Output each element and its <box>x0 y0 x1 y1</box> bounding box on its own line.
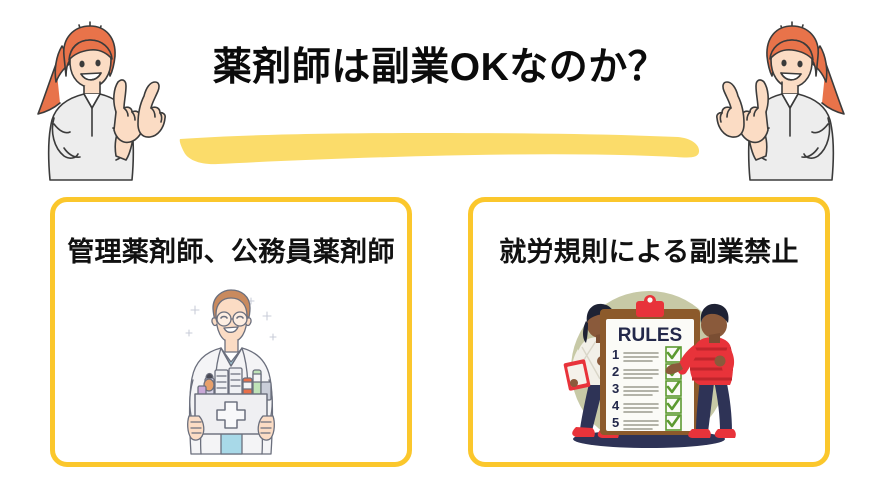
card-title: 就労規則による副業禁止 <box>473 230 825 269</box>
pharmacist-with-medicine-box-illustration <box>55 282 407 462</box>
slide-canvas: 薬剤師は副業OKなのか？ <box>0 0 880 500</box>
svg-text:2: 2 <box>612 364 619 379</box>
pointing-woman-illustration-mirrored <box>700 8 870 188</box>
svg-text:1: 1 <box>612 347 619 362</box>
card-manager-pharmacist[interactable]: 管理薬剤師、公務員薬剤師 <box>50 197 412 467</box>
card-title: 管理薬剤師、公務員薬剤師 <box>55 230 407 269</box>
svg-text:3: 3 <box>612 381 619 396</box>
page-title: 薬剤師は副業OKなのか？ <box>150 45 730 92</box>
rules-heading: RULES <box>618 325 682 346</box>
svg-text:4: 4 <box>612 398 620 413</box>
title-block: 薬剤師は副業OKなのか？ <box>150 45 730 175</box>
rules-clipboard-illustration: RULES 1 2 3 <box>473 282 825 462</box>
brush-underline-decoration <box>178 130 702 166</box>
card-work-rules-ban[interactable]: 就労規則による副業禁止 <box>468 197 830 467</box>
svg-text:5: 5 <box>612 415 619 430</box>
